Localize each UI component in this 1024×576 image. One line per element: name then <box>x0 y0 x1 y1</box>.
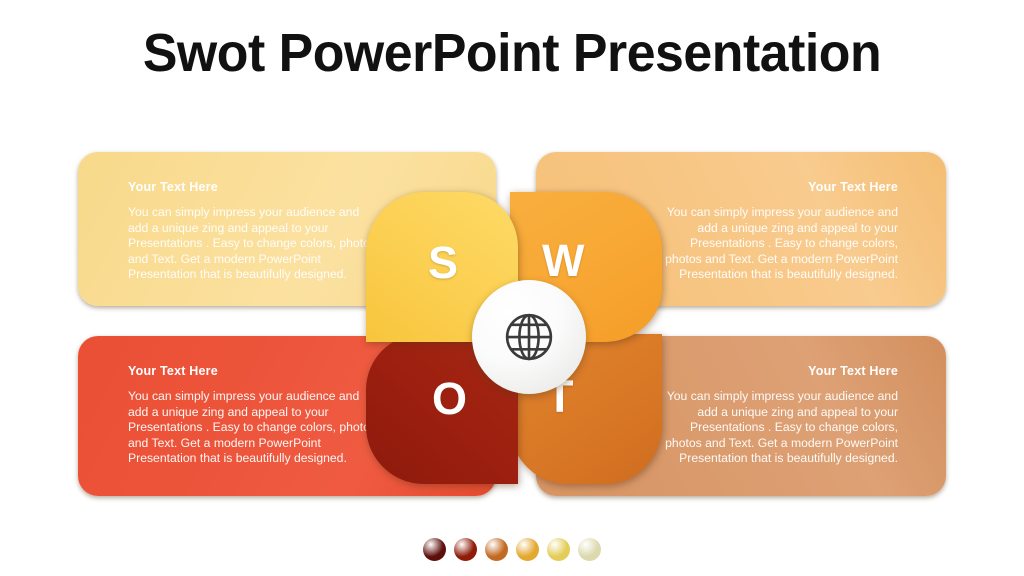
dot-1[interactable] <box>423 538 446 561</box>
color-dot-row <box>0 538 1024 561</box>
panel-weaknesses-heading: Your Text Here <box>656 180 898 194</box>
panel-strengths-body: You can simply impress your audience and… <box>128 205 376 283</box>
wheel-center-hub[interactable] <box>472 280 586 394</box>
wheel-letter-s: S <box>428 240 458 285</box>
globe-icon <box>501 309 557 365</box>
panel-threats-body: You can simply impress your audience and… <box>656 389 898 467</box>
swot-wheel: S W <box>366 192 662 484</box>
wheel-letter-w: W <box>542 238 584 283</box>
panel-threats-heading: Your Text Here <box>656 364 898 378</box>
panel-opportunities-heading: Your Text Here <box>128 364 376 378</box>
dot-6[interactable] <box>578 538 601 561</box>
page-title: Swot PowerPoint Presentation <box>20 22 1003 84</box>
dot-2[interactable] <box>454 538 477 561</box>
dot-4[interactable] <box>516 538 539 561</box>
panel-weaknesses-body: You can simply impress your audience and… <box>656 205 898 283</box>
dot-3[interactable] <box>485 538 508 561</box>
swot-slide: Swot PowerPoint Presentation Your Text H… <box>0 0 1024 576</box>
dot-5[interactable] <box>547 538 570 561</box>
panel-strengths-heading: Your Text Here <box>128 180 376 194</box>
wheel-letter-o: O <box>432 376 467 421</box>
panel-opportunities-body: You can simply impress your audience and… <box>128 389 376 467</box>
